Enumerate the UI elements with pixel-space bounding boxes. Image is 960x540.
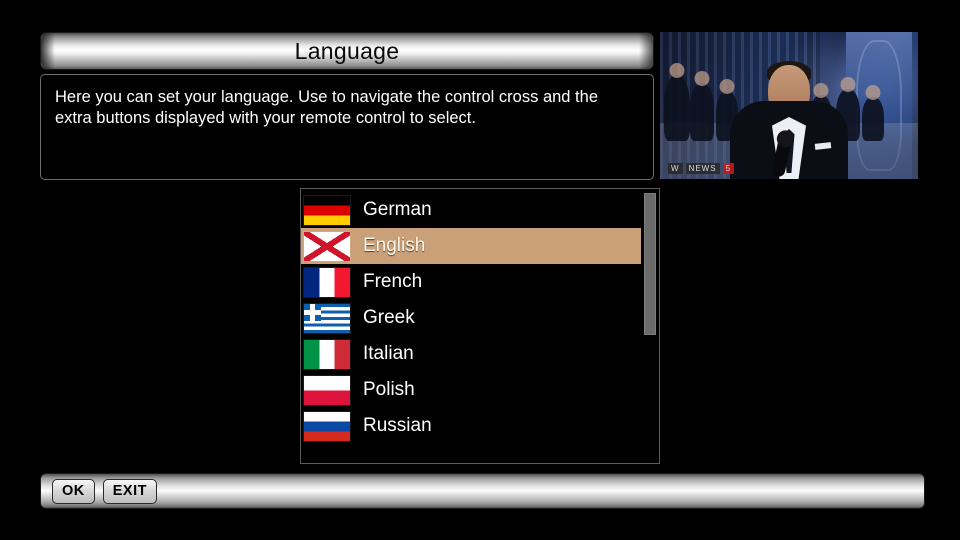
crowd-figure <box>862 97 884 141</box>
language-list[interactable]: GermanEnglishFrenchGreekItalianPolishRus… <box>301 189 641 463</box>
language-label: Italian <box>363 343 414 365</box>
logo-part: NEWS <box>686 163 720 174</box>
flag-greece-icon <box>304 304 350 333</box>
language-label: French <box>363 271 422 293</box>
flag-russia-icon <box>304 412 350 441</box>
flag-united-kingdom-icon <box>304 232 350 261</box>
bottom-action-bar: OKEXIT <box>40 473 925 509</box>
flag-italy-icon <box>304 340 350 369</box>
scrollbar-thumb[interactable] <box>644 193 656 335</box>
language-row-german[interactable]: German <box>301 192 641 228</box>
ok-button[interactable]: OK <box>52 479 95 504</box>
flag-germany-icon <box>304 196 350 225</box>
flag-poland-icon <box>304 376 350 405</box>
crowd-figure <box>664 75 690 141</box>
language-list-panel: GermanEnglishFrenchGreekItalianPolishRus… <box>300 188 660 464</box>
language-row-greek[interactable]: Greek <box>301 300 641 336</box>
language-label: Greek <box>363 307 415 329</box>
language-row-polish[interactable]: Polish <box>301 372 641 408</box>
broadcaster-logo: W NEWS 5 <box>668 162 734 175</box>
page-title-bar: Language <box>40 32 654 70</box>
scrollbar[interactable] <box>643 191 657 461</box>
language-label: English <box>363 235 425 257</box>
language-row-french[interactable]: French <box>301 264 641 300</box>
page-title: Language <box>295 38 400 65</box>
language-label: German <box>363 199 432 221</box>
logo-part: W <box>668 163 683 174</box>
exit-button[interactable]: EXIT <box>103 479 157 504</box>
tv-settings-screen: Language Here you can set your language.… <box>0 0 960 540</box>
language-label: Russian <box>363 415 432 437</box>
crowd-figure <box>690 83 714 141</box>
language-label: Polish <box>363 379 415 401</box>
language-row-russian[interactable]: Russian <box>301 408 641 444</box>
language-row-italian[interactable]: Italian <box>301 336 641 372</box>
flag-france-icon <box>304 268 350 297</box>
language-row-english[interactable]: English <box>301 228 641 264</box>
video-preview[interactable]: W NEWS 5 <box>660 32 918 179</box>
description-panel: Here you can set your language. Use to n… <box>40 74 654 180</box>
description-text: Here you can set your language. Use to n… <box>55 87 639 129</box>
logo-part: 5 <box>723 163 734 174</box>
